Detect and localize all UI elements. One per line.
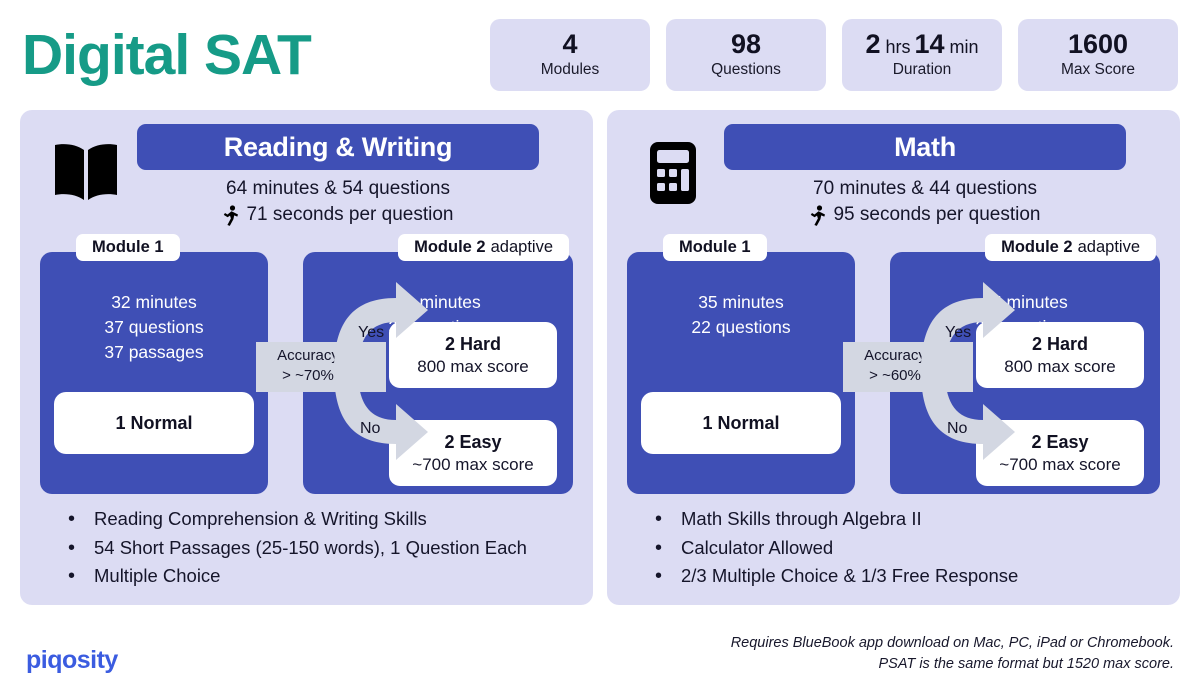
summary-line-2: 95 seconds per question	[833, 202, 1040, 228]
module-1-normal-box: 1 Normal	[641, 392, 841, 454]
module-1-stats: 32 minutes 37 questions 37 passages	[40, 290, 268, 365]
page-title: Digital SAT	[22, 22, 311, 88]
module-2-tab-math: Module 2 adaptive	[985, 234, 1156, 261]
module-1-stat-line: 37 questions	[40, 315, 268, 340]
calculator-icon	[637, 140, 709, 206]
branch-label-yes-reading-writing: Yes	[358, 324, 384, 342]
stat-modules-value: 4	[562, 30, 577, 58]
module-1-stat-line: 22 questions	[627, 315, 855, 340]
section-banner-math: Math	[724, 124, 1126, 170]
module-1-stat-line: 32 minutes	[40, 290, 268, 315]
section-header-math: Math 70 minutes & 44 questions 95 second…	[621, 122, 1166, 232]
module-1-normal-label: 1 Normal	[702, 413, 779, 434]
module-1-tab-label: Module 1	[92, 238, 164, 257]
module-2-tab-label: Module 2	[1001, 238, 1073, 257]
section-header-reading-writing: Reading & Writing 64 minutes & 54 questi…	[34, 122, 579, 232]
hard-outcome-title: 2 Hard	[445, 333, 501, 356]
stat-duration-label: Duration	[893, 60, 952, 80]
module-1-normal-label: 1 Normal	[115, 413, 192, 434]
summary-line-1: 70 minutes & 44 questions	[724, 176, 1126, 202]
module-flow-math: 35 minutes 22 questions 1 Normal Module …	[621, 234, 1166, 494]
list-item: 2/3 Multiple Choice & 1/3 Free Response	[649, 562, 1164, 591]
footer-notes: Requires BlueBook app download on Mac, P…	[731, 633, 1174, 675]
stat-modules: 4 Modules	[490, 19, 650, 91]
duration-minutes-number: 14	[914, 29, 944, 59]
section-reading-writing: Reading & Writing 64 minutes & 54 questi…	[20, 110, 593, 605]
module-1-box-math: 35 minutes 22 questions 1 Normal	[627, 252, 855, 494]
module-2-tab-adaptive-label: adaptive	[1078, 238, 1140, 257]
stat-max-score-value: 1600	[1068, 30, 1128, 58]
list-item: Reading Comprehension & Writing Skills	[62, 505, 577, 534]
duration-hours-unit: hrs	[885, 37, 910, 57]
stat-modules-label: Modules	[541, 60, 600, 80]
section-bullets-math: Math Skills through Algebra II Calculato…	[649, 505, 1164, 591]
section-math: Math 70 minutes & 44 questions 95 second…	[607, 110, 1180, 605]
summary-line-1: 64 minutes & 54 questions	[137, 176, 539, 202]
sections-container: Reading & Writing 64 minutes & 54 questi…	[0, 110, 1200, 605]
section-banner-label: Reading & Writing	[224, 132, 452, 163]
module-1-stat-line: 37 passages	[40, 340, 268, 365]
footer-note-line-1: Requires BlueBook app download on Mac, P…	[731, 633, 1174, 654]
summary-line-2-wrap: 71 seconds per question	[137, 202, 539, 228]
stat-duration-value: 2hrs14min	[865, 30, 978, 58]
easy-outcome-title: 2 Easy	[444, 431, 501, 454]
branch-label-no-reading-writing: No	[360, 420, 380, 438]
section-banner-label: Math	[894, 132, 956, 163]
piqosity-logo: piqosity	[26, 646, 118, 675]
duration-hours-number: 2	[865, 29, 880, 59]
summary-line-2: 71 seconds per question	[246, 202, 453, 228]
stat-questions: 98 Questions	[666, 19, 826, 91]
module-2-tab-reading-writing: Module 2 adaptive	[398, 234, 569, 261]
stat-duration: 2hrs14min Duration	[842, 19, 1002, 91]
stat-questions-label: Questions	[711, 60, 781, 80]
list-item: 54 Short Passages (25-150 words), 1 Ques…	[62, 534, 577, 563]
module-1-box-reading-writing: 32 minutes 37 questions 37 passages 1 No…	[40, 252, 268, 494]
module-1-stats: 35 minutes 22 questions	[627, 290, 855, 340]
module-1-normal-box: 1 Normal	[54, 392, 254, 454]
list-item: Math Skills through Algebra II	[649, 505, 1164, 534]
page-footer: piqosity Requires BlueBook app download …	[0, 605, 1200, 675]
summary-line-2-wrap: 95 seconds per question	[724, 202, 1126, 228]
section-summary-reading-writing: 64 minutes & 54 questions 71 seconds per…	[137, 176, 539, 228]
module-1-tab-math: Module 1	[663, 234, 767, 261]
module-1-tab-label: Module 1	[679, 238, 751, 257]
section-summary-math: 70 minutes & 44 questions 95 seconds per…	[724, 176, 1126, 228]
page-header: Digital SAT 4 Modules 98 Questions 2hrs1…	[0, 0, 1200, 110]
module-1-stat-line: 35 minutes	[627, 290, 855, 315]
open-book-icon	[50, 140, 122, 206]
section-banner-reading-writing: Reading & Writing	[137, 124, 539, 170]
stat-max-score: 1600 Max Score	[1018, 19, 1178, 91]
running-person-icon	[809, 205, 826, 226]
footer-note-line-2: PSAT is the same format but 1520 max sco…	[731, 654, 1174, 675]
stat-max-score-label: Max Score	[1061, 60, 1135, 80]
module-1-tab-reading-writing: Module 1	[76, 234, 180, 261]
hard-outcome-title: 2 Hard	[1032, 333, 1088, 356]
section-bullets-reading-writing: Reading Comprehension & Writing Skills 5…	[62, 505, 577, 591]
running-person-icon	[222, 205, 239, 226]
stat-questions-value: 98	[731, 30, 761, 58]
module-2-tab-adaptive-label: adaptive	[491, 238, 553, 257]
duration-minutes-unit: min	[950, 37, 979, 57]
module-flow-reading-writing: 32 minutes 37 questions 37 passages 1 No…	[34, 234, 579, 494]
branch-label-yes-math: Yes	[945, 324, 971, 342]
stats-row: 4 Modules 98 Questions 2hrs14min Duratio…	[389, 19, 1178, 91]
easy-outcome-title: 2 Easy	[1031, 431, 1088, 454]
list-item: Calculator Allowed	[649, 534, 1164, 563]
branch-label-no-math: No	[947, 420, 967, 438]
list-item: Multiple Choice	[62, 562, 577, 591]
module-2-tab-label: Module 2	[414, 238, 486, 257]
